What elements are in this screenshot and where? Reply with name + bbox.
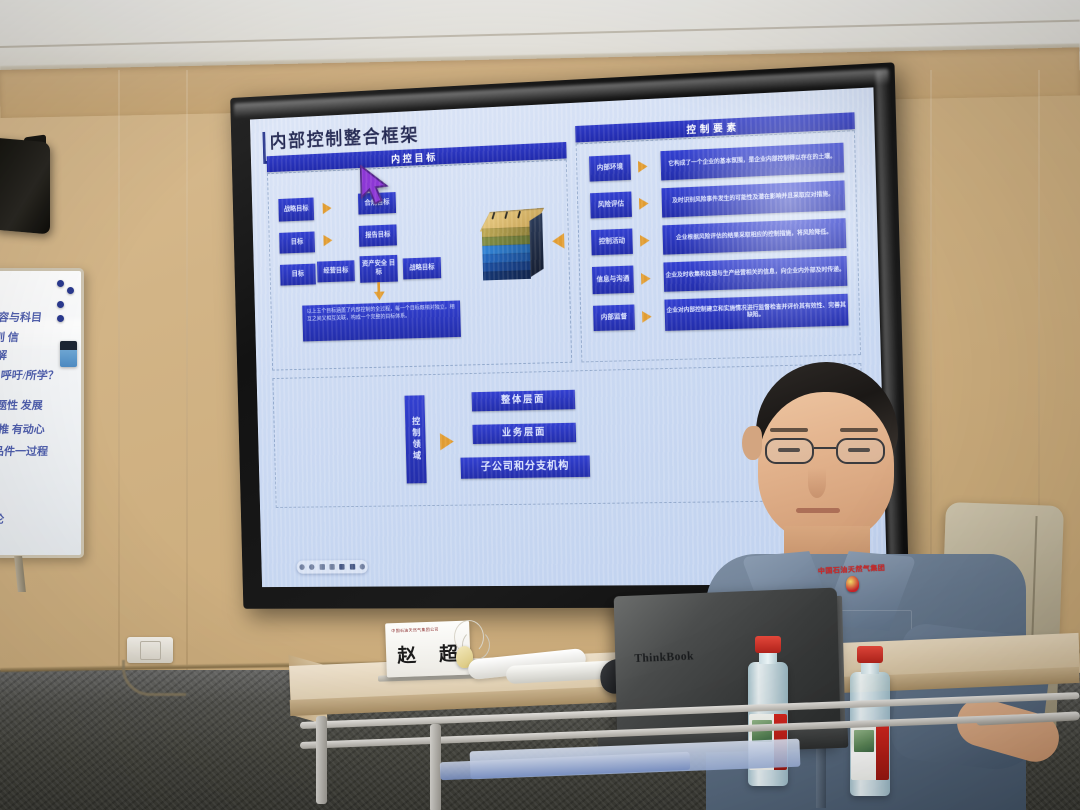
control-element-desc: 企业及时收集和处理与生产经营相关的信息，向企业内外部及时传递。	[663, 256, 847, 292]
wall-panel-seam	[186, 70, 188, 700]
cube-layer	[483, 270, 531, 280]
goal-box: 目标	[279, 231, 315, 253]
desk-leg	[316, 716, 327, 804]
laptop-brand-label: ThinkBook	[634, 648, 694, 666]
whiteboard-line: 见解	[0, 347, 8, 363]
whiteboard-line: 核 呼吁/所学？	[0, 367, 60, 383]
next-slide-icon[interactable]	[309, 564, 314, 570]
pointer-icon[interactable]	[329, 564, 334, 570]
lens-right	[836, 438, 885, 464]
wall-panel-seam	[118, 70, 120, 700]
slide-grid-icon[interactable]	[339, 564, 344, 570]
magnet-icon	[57, 280, 64, 287]
eyebrow	[770, 428, 808, 432]
magnet-icon	[67, 287, 74, 294]
whiteboard-line: 力推 有动心	[0, 421, 46, 437]
eyeglasses-icon	[762, 438, 890, 464]
bottle-label	[851, 724, 889, 780]
glasses-bridge	[814, 447, 836, 449]
control-element-name: 控制活动	[591, 229, 633, 256]
control-element-desc: 企业对内部控制建立和实施情况进行监督检查并评价其有效性、完善其缺陷。	[664, 294, 848, 331]
arrow-right-icon	[323, 202, 332, 214]
control-domain-item: 业务层面	[472, 423, 576, 444]
presentation-toolbar[interactable]	[297, 560, 368, 574]
control-element-name: 信息与沟通	[592, 266, 634, 295]
ceiling-speaker	[0, 138, 50, 235]
whiteboard-line: 有题性 发展	[0, 397, 44, 413]
arrow-right-icon	[640, 235, 650, 247]
goal-box: 资产安全 目标	[360, 255, 398, 283]
zoom-icon[interactable]	[350, 564, 355, 570]
arrow-right-icon	[440, 433, 454, 450]
eyebrow	[840, 428, 878, 432]
magnet-icon	[57, 301, 64, 308]
goal-box: 目标	[280, 264, 316, 286]
left-panel-note: 以上五个目标涵盖了内部控制的全过程，每一个目标既相对独立，相互之间又相互关联，构…	[302, 300, 461, 341]
cube-side-face	[529, 213, 543, 277]
goal-box: 经营目标	[317, 260, 355, 282]
prev-slide-icon[interactable]	[299, 564, 304, 570]
lens-left	[765, 438, 814, 464]
slide-title: 内部控制整合框架	[269, 120, 419, 153]
whiteboard-line: 论	[0, 511, 5, 527]
control-domain-item: 子公司和分支机构	[461, 455, 591, 478]
control-element-name: 风险评估	[590, 192, 632, 219]
ear	[742, 426, 762, 460]
cube-top-markers	[491, 210, 532, 221]
meeting-room-photo: 内容与科目 法则 信 见解 核 呼吁/所学？ 有题性 发展 力推 有动心 品件一…	[0, 0, 1080, 810]
bottle-cap	[857, 646, 883, 663]
cube-front-face	[482, 227, 531, 281]
arrow-right-icon	[638, 161, 648, 173]
bottle-cap	[755, 636, 781, 653]
whiteboard-line: 品件一过程	[0, 443, 49, 459]
control-element-name: 内部环境	[589, 155, 631, 182]
arrow-right-icon	[639, 198, 649, 210]
mouth	[796, 508, 840, 513]
face	[758, 392, 894, 542]
more-options-icon[interactable]	[360, 564, 366, 570]
arrow-left-icon	[552, 233, 564, 249]
goal-box: 战略目标	[403, 257, 442, 279]
goal-box: 战略目标	[278, 198, 314, 222]
control-domain-label: 控制领域	[405, 395, 427, 483]
whiteboard[interactable]: 内容与科目 法则 信 见解 核 呼吁/所学？ 有题性 发展 力推 有动心 品件一…	[0, 268, 84, 558]
goal-box: 报告目标	[359, 224, 397, 246]
whiteboard-line: 内容与科目	[0, 309, 43, 325]
control-element-name: 内部监督	[593, 304, 635, 331]
pen-icon[interactable]	[319, 564, 324, 570]
whiteboard-line: 法则 信	[0, 329, 20, 345]
coso-cube-diagram	[481, 209, 544, 281]
arrow-right-icon	[641, 273, 651, 285]
nose	[808, 468, 826, 498]
party-emblem-pin-icon	[846, 576, 859, 592]
arrow-right-icon	[642, 311, 652, 323]
magnet-icon	[57, 315, 64, 322]
arrow-right-icon	[323, 235, 332, 247]
board-eraser[interactable]	[60, 341, 77, 367]
control-domain-item: 整体层面	[472, 390, 576, 412]
arrow-down-icon	[374, 291, 385, 300]
